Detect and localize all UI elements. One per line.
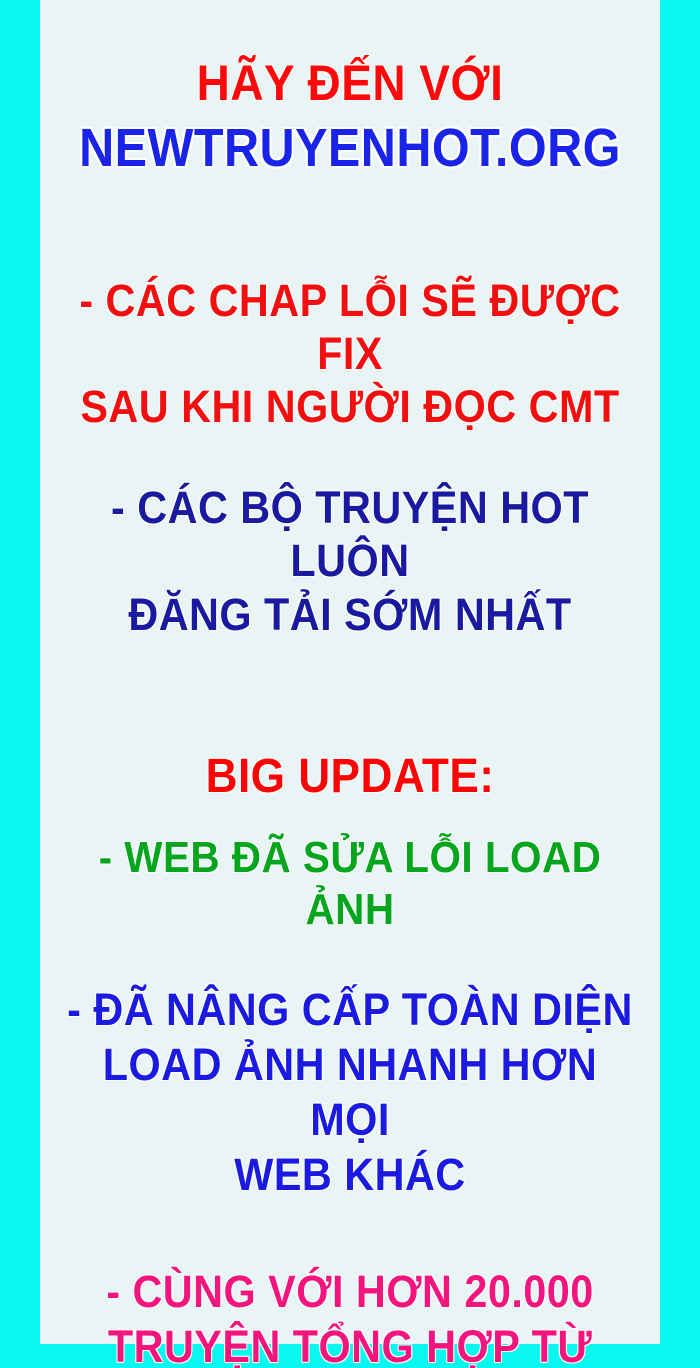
site-name-headline[interactable]: NEWTRUYENHOT.ORG xyxy=(71,121,629,176)
update-item-image-load-fixed: - WEB ĐÃ SỬA LỖI LOAD ẢNH xyxy=(65,832,635,936)
banner-panel: HÃY ĐẾN VỚI NEWTRUYENHOT.ORG - CÁC CHAP … xyxy=(40,0,660,1344)
update-item-full-upgrade: - ĐÃ NÂNG CẤP TOÀN DIỆN LOAD ẢNH NHANH H… xyxy=(65,983,635,1203)
notice-fix-chapters: - CÁC CHAP LỖI SẼ ĐƯỢC FIX SAU KHI NGƯỜI… xyxy=(65,274,635,433)
notice-hot-series: - CÁC BỘ TRUYỆN HOT LUÔN ĐĂNG TẢI SỚM NH… xyxy=(65,481,635,640)
headline-invite: HÃY ĐẾN VỚI xyxy=(65,58,635,109)
update-item-catalog-size: - CÙNG VỚI HƠN 20.000 TRUYỆN TỔNG HỢP TỪ… xyxy=(65,1265,635,1368)
promo-banner: HÃY ĐẾN VỚI NEWTRUYENHOT.ORG - CÁC CHAP … xyxy=(0,0,700,1368)
big-update-heading: BIG UPDATE: xyxy=(65,753,635,802)
